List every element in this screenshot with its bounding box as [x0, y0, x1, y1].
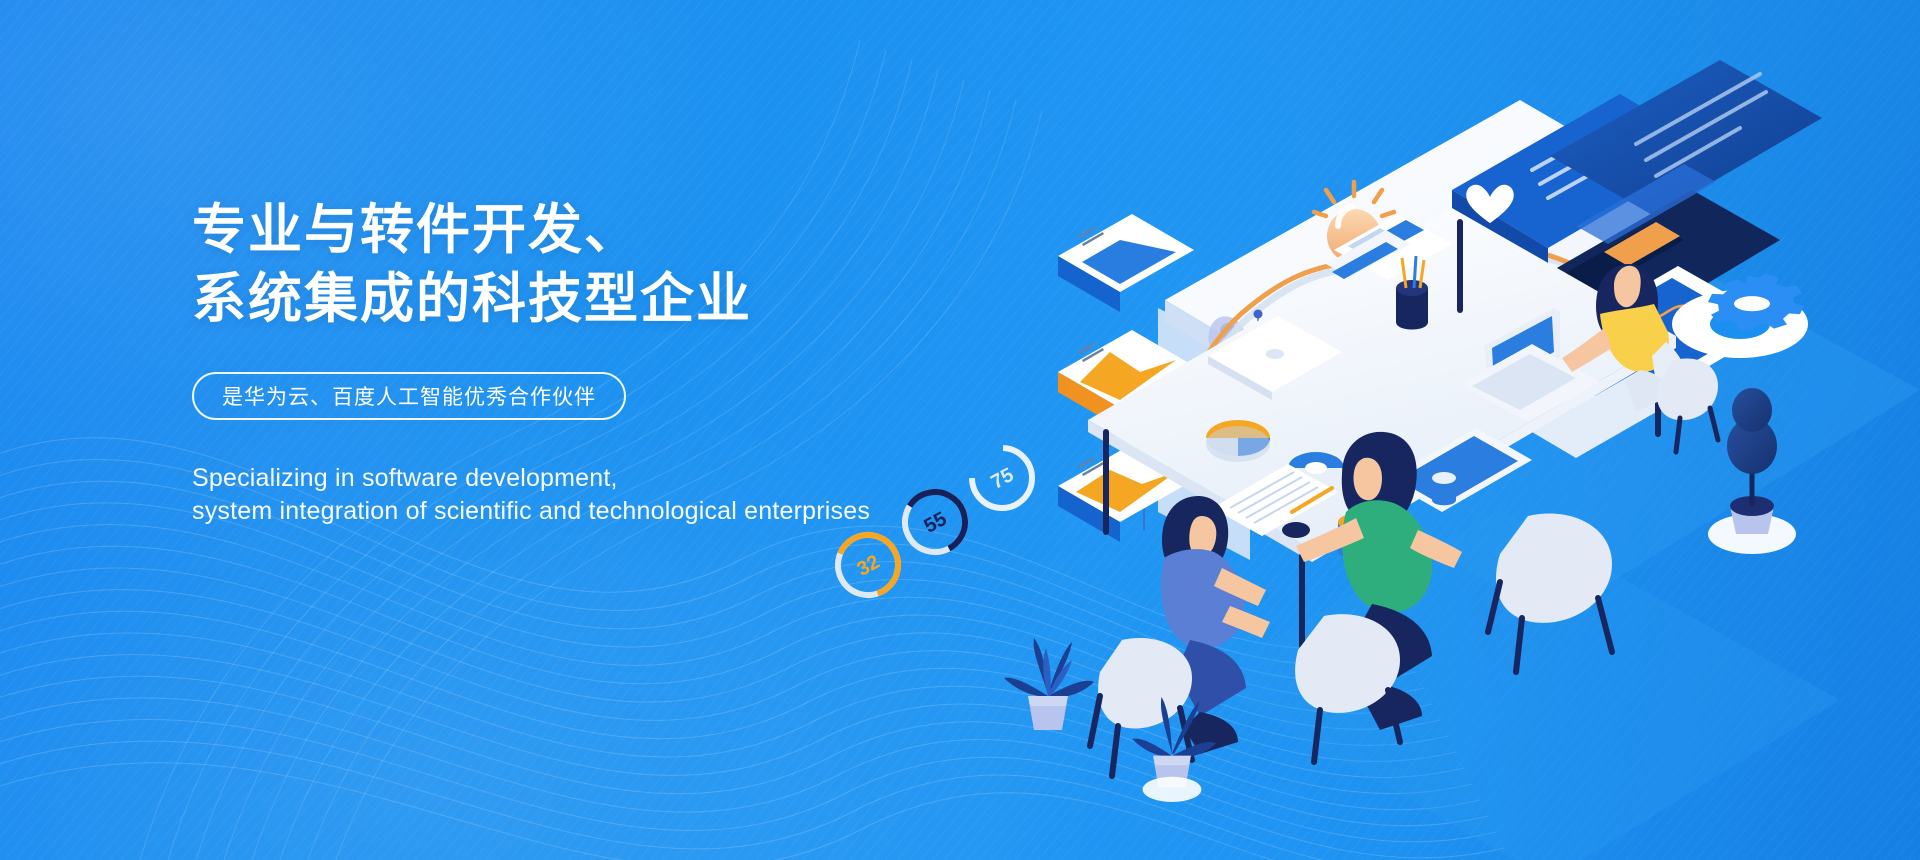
hero-copy-block: 专业与转件开发、 系统集成的科技型企业 是华为云、百度人工智能优秀合作伙伴 Sp… [192, 196, 1012, 528]
subtitle-line-2: system integration of scientific and tec… [192, 495, 1012, 528]
gauge-value-32: 32 [853, 551, 883, 581]
page-title: 专业与转件开发、 系统集成的科技型企业 [192, 196, 1012, 334]
coffee-mug-2 [1432, 472, 1456, 505]
hero-subtitle: Specializing in software development, sy… [192, 462, 1012, 528]
pie-chart [1206, 420, 1270, 462]
hero-illustration: 65 123 97 81 [1080, 60, 1920, 820]
spiky-plant-1 [1004, 638, 1094, 730]
subtitle-line-1: Specializing in software development, [192, 462, 1012, 495]
person-blue-left [1161, 496, 1270, 754]
hero-banner: 专业与转件开发、 系统集成的科技型企业 是华为云、百度人工智能优秀合作伙伴 Sp… [0, 0, 1920, 860]
small-disc [1282, 522, 1310, 538]
headline-line-1: 专业与转件开发、 [192, 196, 1012, 265]
partner-badge[interactable]: 是华为云、百度人工智能优秀合作伙伴 [192, 372, 626, 420]
headline-line-2: 系统集成的科技型企业 [192, 265, 1012, 334]
